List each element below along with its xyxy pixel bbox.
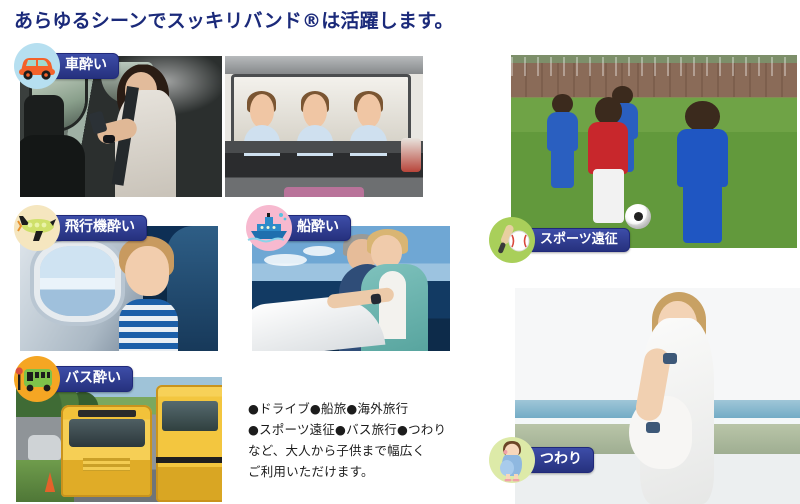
photo-car-kids bbox=[225, 56, 423, 197]
baseball-bat-icon bbox=[489, 217, 535, 263]
usage-copy-line-1: ●ドライブ●船旅●海外旅行 bbox=[248, 398, 446, 419]
badge-seasickness[interactable]: 船酔い bbox=[246, 205, 351, 251]
badge-airsickness[interactable]: 飛行機酔い bbox=[14, 205, 147, 251]
badge-sports-trip[interactable]: スポーツ遠征 bbox=[489, 217, 630, 263]
badge-bus-sickness[interactable]: バス酔い bbox=[14, 356, 133, 402]
car-kids-scene bbox=[225, 56, 423, 197]
badge-airsickness-label: 飛行機酔い bbox=[46, 215, 147, 241]
badge-car-sickness[interactable]: 車酔い bbox=[14, 43, 119, 89]
pregnant-woman-icon bbox=[489, 437, 535, 483]
badge-sports-trip-label: スポーツ遠征 bbox=[521, 228, 630, 253]
page-title: あらゆるシーンでスッキリバンド®は活躍します。 bbox=[14, 6, 454, 33]
car-icon bbox=[14, 43, 60, 89]
airplane-icon bbox=[14, 205, 60, 251]
ship-icon bbox=[246, 205, 292, 251]
bus-icon bbox=[14, 356, 60, 402]
badge-morning-sickness[interactable]: つわり bbox=[489, 437, 594, 483]
usage-copy: ●ドライブ●船旅●海外旅行 ●スポーツ遠征●バス旅行●つわり など、大人から子供… bbox=[248, 398, 446, 482]
usage-copy-line-2: ●スポーツ遠征●バス旅行●つわり bbox=[248, 419, 446, 440]
usage-copy-line-4: ご利用いただけます。 bbox=[248, 461, 446, 482]
usage-copy-line-3: など、大人から子供まで幅広く bbox=[248, 440, 446, 461]
